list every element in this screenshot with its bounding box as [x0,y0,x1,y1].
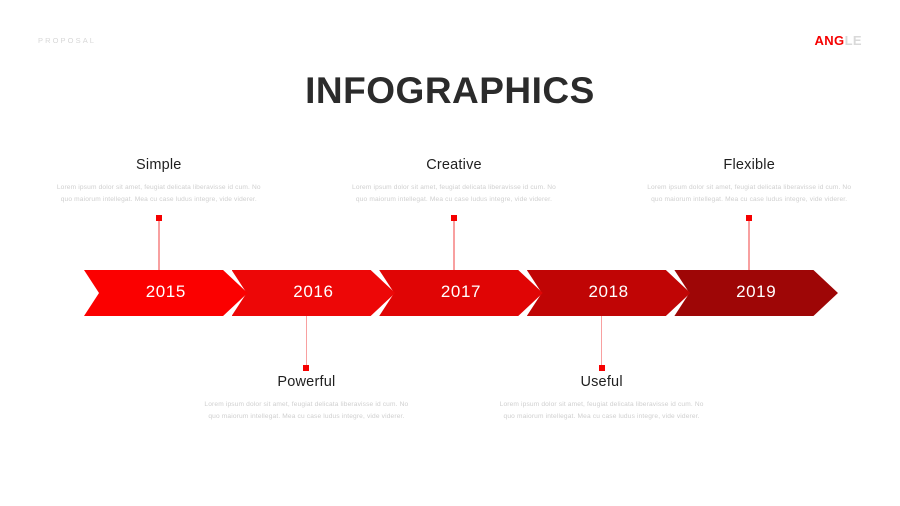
slide-header: PROPOSAL ANGLE [0,0,900,70]
timeline-year-label: 2019 [736,282,776,302]
timeline-segment-2016[interactable]: 2016 [232,270,396,316]
text-block-powerful: PowerfulLorem ipsum dolor sit amet, feug… [200,374,412,423]
brand-logo-primary: ANG [814,33,844,48]
timeline-year-label: 2017 [441,282,481,302]
text-block-simple: SimpleLorem ipsum dolor sit amet, feugia… [53,157,265,206]
connector-line-useful [601,316,603,371]
connector-cap [599,365,605,371]
page-title: INFOGRAPHICS [0,70,900,112]
connector-cap [156,215,162,221]
connector-cap [451,215,457,221]
connector-line-simple [158,215,160,270]
block-title: Creative [348,157,560,173]
connector-cap [746,215,752,221]
timeline-segment-2017[interactable]: 2017 [379,270,543,316]
block-title: Useful [496,374,708,390]
timeline-segment-2019[interactable]: 2019 [674,270,838,316]
timeline-year-label: 2018 [588,282,628,302]
connector-line-creative [453,215,455,270]
text-block-useful: UsefulLorem ipsum dolor sit amet, feugia… [496,374,708,423]
block-title: Simple [53,157,265,173]
proposal-label: PROPOSAL [38,36,96,45]
timeline-band: 20152016201720182019 [84,270,816,316]
timeline-segment-2015[interactable]: 2015 [84,270,248,316]
text-block-flexible: FlexibleLorem ipsum dolor sit amet, feug… [643,157,855,206]
block-title: Powerful [200,374,412,390]
block-body: Lorem ipsum dolor sit amet, feugiat deli… [200,399,412,423]
timeline-year-label: 2015 [146,282,186,302]
brand-logo-secondary: LE [845,33,862,48]
timeline-segment-2018[interactable]: 2018 [527,270,691,316]
block-body: Lorem ipsum dolor sit amet, feugiat deli… [496,399,708,423]
timeline-year-label: 2016 [293,282,333,302]
connector-line-powerful [306,316,308,371]
block-body: Lorem ipsum dolor sit amet, feugiat deli… [348,182,560,206]
connector-line-flexible [748,215,750,270]
text-block-creative: CreativeLorem ipsum dolor sit amet, feug… [348,157,560,206]
block-body: Lorem ipsum dolor sit amet, feugiat deli… [53,182,265,206]
brand-logo: ANGLE [814,33,862,48]
block-title: Flexible [643,157,855,173]
block-body: Lorem ipsum dolor sit amet, feugiat deli… [643,182,855,206]
connector-cap [303,365,309,371]
